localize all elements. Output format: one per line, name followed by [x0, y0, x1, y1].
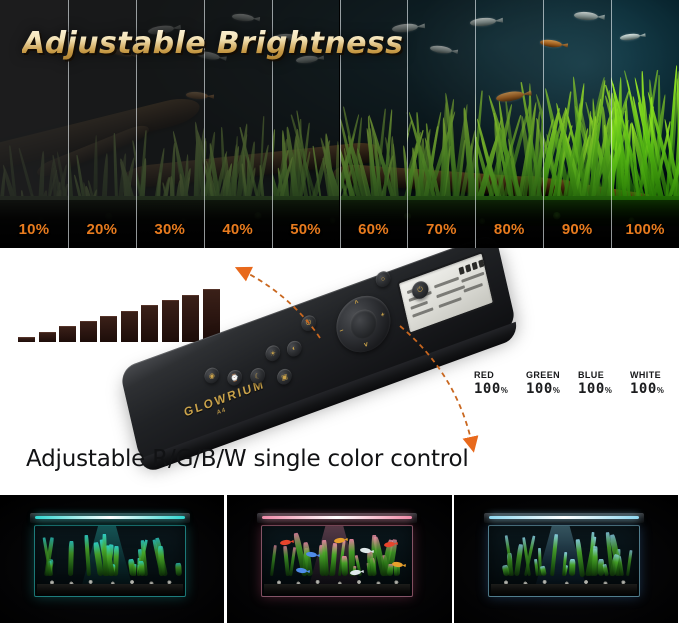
led-light-bar [257, 513, 417, 523]
remote-button-mode[interactable]: ◐ [285, 339, 302, 359]
tank-plant [84, 535, 90, 576]
tank-fish [280, 539, 292, 545]
remote-button-sun[interactable]: ☀ [264, 343, 281, 363]
channel-unit: % [553, 386, 561, 395]
channel-value: 100% [526, 381, 560, 397]
channel-value: 100% [578, 381, 612, 397]
brightness-percent-label: 10% [0, 221, 68, 238]
brightness-step-bar [59, 326, 76, 342]
brightness-percent-label: 90% [543, 221, 611, 238]
channel-unit: % [501, 386, 509, 395]
aquarium-pink [227, 495, 451, 623]
channel-unit: % [657, 386, 665, 395]
channel-name: GREEN [526, 370, 560, 380]
brightness-percent-label: 70% [407, 221, 475, 238]
remote-button-preset[interactable]: ▣ [276, 367, 293, 387]
tank-substrate [37, 584, 183, 595]
channel-red: RED100% [474, 370, 508, 397]
dpad-down-icon[interactable]: v [363, 341, 368, 349]
brightness-percent-label: 20% [68, 221, 136, 238]
remote-model-label: A4 [216, 407, 226, 416]
tank-plant [175, 562, 182, 576]
tank-plant [569, 559, 576, 576]
channel-value: 100% [630, 381, 664, 397]
rgbw-readout-group: RED100%GREEN100%BLUE100%WHITE100% [474, 370, 664, 416]
panel-divider [407, 0, 408, 248]
aquarium-color-examples [0, 495, 679, 623]
brightness-percent-label: 80% [475, 221, 543, 238]
led-light-bar [30, 513, 190, 523]
brightness-step-bar [39, 332, 56, 342]
led-lens [489, 516, 639, 519]
brightness-comparison-strip: 10%20%30%40%50%60%70%80%90%100% Adjustab… [0, 0, 679, 248]
panel-divider [611, 0, 612, 248]
tank-glass [34, 525, 186, 597]
remote-body: GLOWRIUM A4 [119, 232, 517, 463]
tank-substrate [264, 584, 410, 595]
dpad-minus-icon[interactable]: − [339, 327, 344, 335]
remote-button-bright[interactable]: ☼ [374, 269, 391, 289]
brightness-percent-label: 40% [204, 221, 272, 238]
channel-name: RED [474, 370, 508, 380]
tank-glass [488, 525, 640, 597]
aquarium-teal [0, 495, 224, 623]
dpad-plus-icon[interactable]: + [380, 311, 385, 319]
tank-plant [341, 556, 348, 576]
channel-green: GREEN100% [526, 370, 560, 397]
tank-plant [514, 544, 523, 577]
remote-dpad[interactable]: ^ v − + [331, 288, 396, 360]
remote-control-section: GLOWRIUM A4 [0, 248, 679, 495]
panel-divider [475, 0, 476, 248]
tank-plant [270, 545, 277, 576]
aquarium-blue [454, 495, 678, 623]
led-light-bar [484, 513, 644, 523]
channel-name: BLUE [578, 370, 612, 380]
remote-button-color[interactable]: ◉ [203, 366, 220, 386]
tank-plant [626, 550, 632, 576]
led-lens [35, 516, 185, 519]
color-control-heading: Adjustable R/G/B/W single color control [26, 446, 469, 472]
dpad-up-icon[interactable]: ^ [354, 299, 359, 307]
channel-value: 100% [474, 381, 508, 397]
tank-glass [261, 525, 413, 597]
tank-substrate [491, 584, 637, 595]
led-lens [262, 516, 412, 519]
remote-ok-button[interactable] [347, 305, 380, 342]
brightness-step-bar [80, 321, 97, 342]
brightness-step-bar [18, 337, 35, 342]
page-title: Adjustable Brightness [22, 26, 403, 61]
channel-unit: % [605, 386, 613, 395]
channel-blue: BLUE100% [578, 370, 612, 397]
brightness-percent-label: 100% [611, 221, 679, 238]
channel-white: WHITE100% [630, 370, 664, 397]
tank-plant [283, 546, 290, 576]
tank-plant [102, 534, 106, 576]
brightness-percent-label: 30% [136, 221, 204, 238]
brightness-percent-label: 60% [340, 221, 408, 238]
remote-button-power[interactable]: ⏻ [300, 313, 317, 333]
brightness-percent-label: 50% [272, 221, 340, 238]
tank-plant [68, 540, 74, 576]
panel-divider [543, 0, 544, 248]
product-infographic: 10%20%30%40%50%60%70%80%90%100% Adjustab… [0, 0, 679, 623]
channel-name: WHITE [630, 370, 664, 380]
